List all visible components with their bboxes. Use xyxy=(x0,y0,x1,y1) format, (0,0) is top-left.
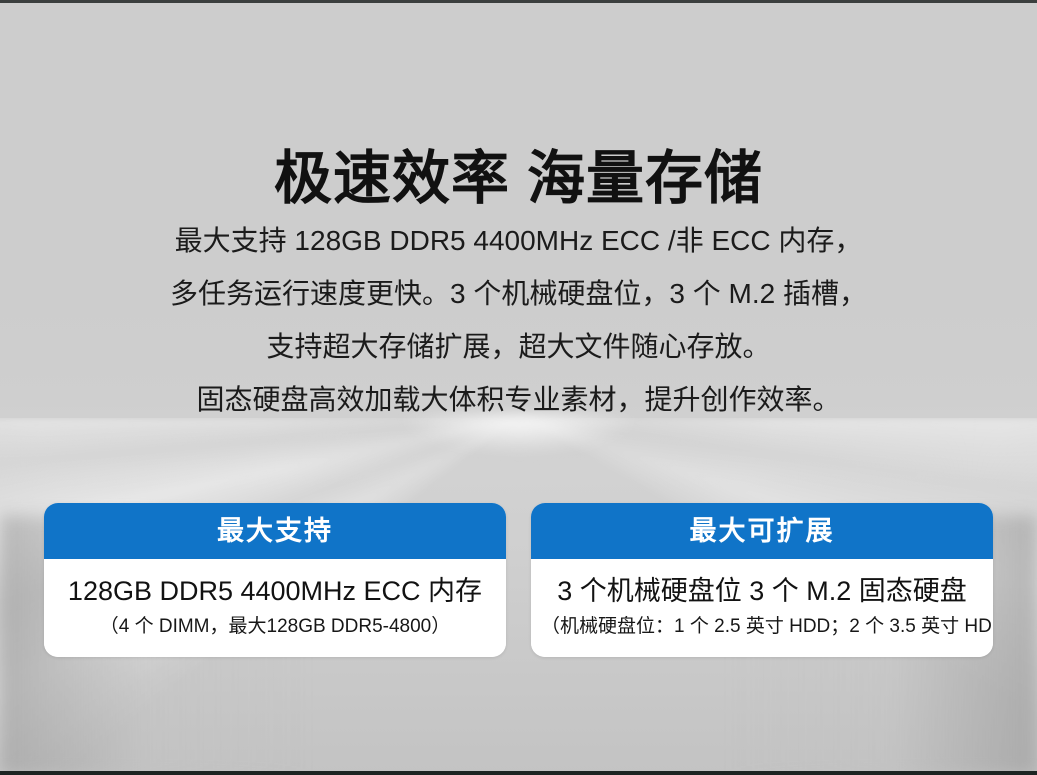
description-line-2: 多任务运行速度更快。3 个机械硬盘位，3 个 M.2 插槽， xyxy=(0,267,1037,320)
content-layer: 极速效率 海量存储 最大支持 128GB DDR5 4400MHz ECC /非… xyxy=(0,0,1037,775)
page-title: 极速效率 海量存储 xyxy=(0,147,1037,211)
promo-page: 极速效率 海量存储 最大支持 128GB DDR5 4400MHz ECC /非… xyxy=(0,0,1037,775)
spec-card-main-text: 3 个机械硬盘位 3 个 M.2 固态硬盘 xyxy=(541,575,983,609)
description-line-1: 最大支持 128GB DDR5 4400MHz ECC /非 ECC 内存， xyxy=(0,214,1037,267)
description-line-3: 支持超大存储扩展，超大文件随心存放。 xyxy=(0,320,1037,373)
spec-cards: 最大支持 128GB DDR5 4400MHz ECC 内存 （4 个 DIMM… xyxy=(44,503,993,657)
spec-card-max-support: 最大支持 128GB DDR5 4400MHz ECC 内存 （4 个 DIMM… xyxy=(44,503,506,657)
spec-card-max-expandable: 最大可扩展 3 个机械硬盘位 3 个 M.2 固态硬盘 （机械硬盘位：1 个 2… xyxy=(531,503,993,657)
description-line-4: 固态硬盘高效加载大体积专业素材，提升创作效率。 xyxy=(0,373,1037,426)
spec-card-body: 3 个机械硬盘位 3 个 M.2 固态硬盘 （机械硬盘位：1 个 2.5 英寸 … xyxy=(531,559,993,657)
spec-card-sub-text: （4 个 DIMM，最大128GB DDR5-4800） xyxy=(54,615,496,640)
spec-card-body: 128GB DDR5 4400MHz ECC 内存 （4 个 DIMM，最大12… xyxy=(44,559,506,657)
spec-card-sub-text: （机械硬盘位：1 个 2.5 英寸 HDD；2 个 3.5 英寸 HDD） xyxy=(541,615,983,640)
description-block: 最大支持 128GB DDR5 4400MHz ECC /非 ECC 内存， 多… xyxy=(0,214,1037,426)
spec-card-header: 最大可扩展 xyxy=(531,503,993,559)
spec-card-main-text: 128GB DDR5 4400MHz ECC 内存 xyxy=(54,575,496,609)
spec-card-header: 最大支持 xyxy=(44,503,506,559)
